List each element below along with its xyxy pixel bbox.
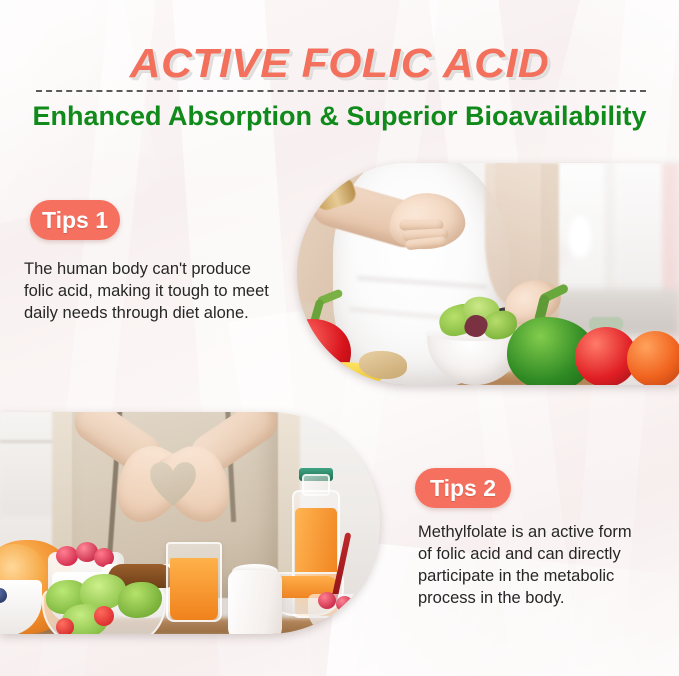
title-divider bbox=[36, 90, 646, 92]
tips1-badge[interactable]: Tips 1 bbox=[30, 200, 120, 240]
tips1-photo-scene bbox=[297, 163, 679, 385]
juice-in-glass bbox=[170, 558, 218, 620]
berry-small-1 bbox=[318, 592, 336, 609]
tips2-body-text: Methylfolate is an active form of folic … bbox=[418, 521, 670, 609]
tips2-photo bbox=[0, 412, 380, 634]
milk-jug bbox=[228, 570, 282, 634]
header: ACTIVE FOLIC ACID Enhanced Absorption & … bbox=[0, 0, 679, 150]
orange-tomato bbox=[627, 331, 679, 385]
cherry-tomato-salad-2 bbox=[56, 618, 74, 634]
tips2-photo-scene bbox=[0, 412, 380, 634]
tips1-photo bbox=[297, 163, 679, 385]
background-object-1 bbox=[569, 215, 591, 257]
raspberry-1 bbox=[56, 546, 78, 566]
page-subtitle: Enhanced Absorption & Superior Bioavaila… bbox=[0, 101, 679, 132]
berry-small-2 bbox=[336, 596, 353, 612]
cherry-tomato-salad bbox=[94, 606, 114, 626]
tips1-body-text: The human body can't produce folic acid,… bbox=[24, 258, 302, 324]
tips2-badge[interactable]: Tips 2 bbox=[415, 468, 511, 508]
page-title: ACTIVE FOLIC ACID bbox=[0, 40, 679, 87]
